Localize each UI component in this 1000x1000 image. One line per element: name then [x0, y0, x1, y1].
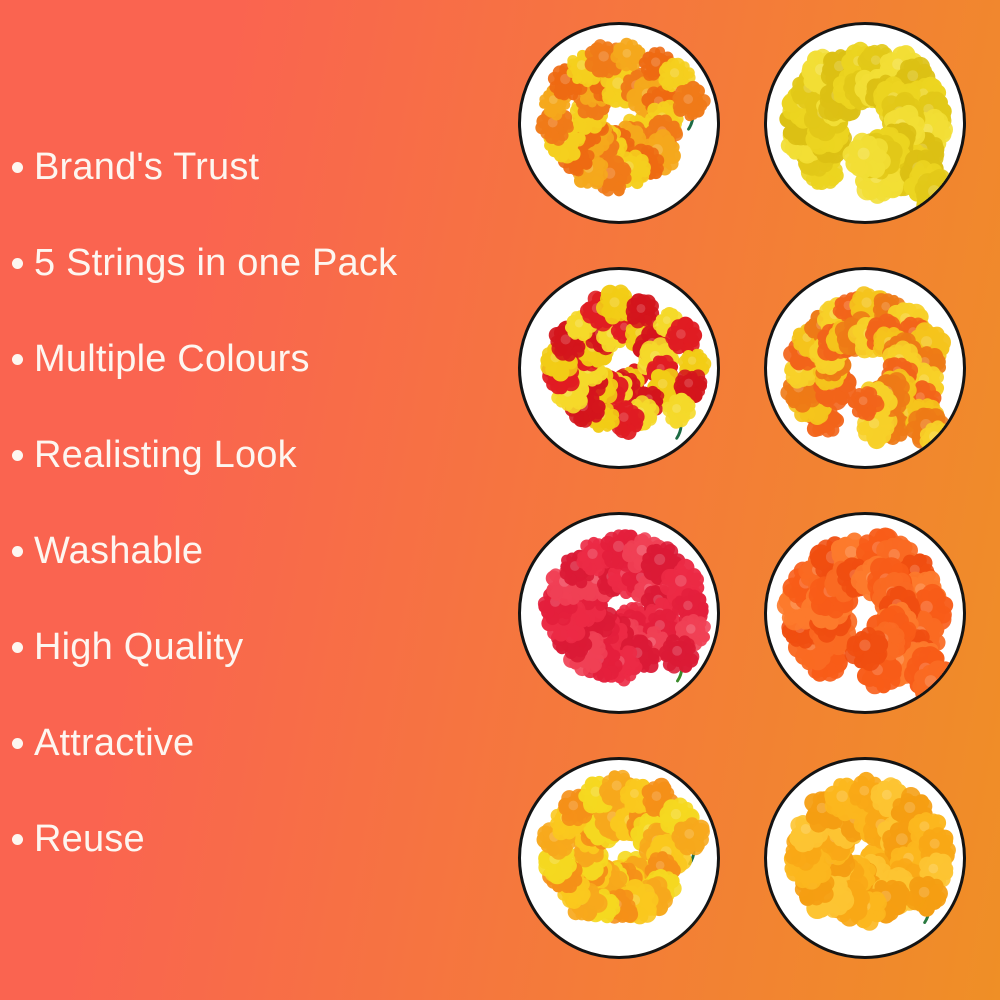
flower-cluster — [540, 285, 711, 440]
flower-cluster — [535, 38, 710, 197]
feature-item: Brand's Trust — [12, 144, 259, 190]
product-photo-garland-yellow-gold-mixed[interactable] — [518, 757, 720, 959]
product-photo-garland-golden-amber[interactable] — [764, 757, 966, 959]
bullet-dot-icon — [12, 450, 23, 461]
feature-label: Realisting Look — [34, 436, 297, 474]
product-photo-garland-yellow-orange-mixed[interactable] — [518, 22, 720, 224]
feature-label: Reuse — [34, 820, 145, 858]
flower-cluster — [779, 42, 960, 216]
garland-illustration — [521, 270, 717, 466]
product-photo-garland-orange[interactable] — [764, 512, 966, 714]
feature-label: Attractive — [34, 724, 194, 762]
feature-label: High Quality — [34, 628, 243, 666]
flower-cluster — [780, 286, 958, 460]
feature-item: 5 Strings in one Pack — [12, 240, 397, 286]
garland-illustration — [767, 270, 963, 466]
feature-item: Attractive — [12, 720, 194, 766]
bullet-dot-icon — [12, 642, 23, 653]
feature-item: High Quality — [12, 624, 243, 670]
feature-item: Realisting Look — [12, 432, 297, 478]
bullet-dot-icon — [12, 354, 23, 365]
garland-illustration — [521, 515, 717, 711]
product-photo-grid — [512, 22, 992, 982]
bullet-dot-icon — [12, 546, 23, 557]
garland-illustration — [521, 760, 717, 956]
feature-item: Washable — [12, 528, 203, 574]
feature-label: Multiple Colours — [34, 340, 310, 378]
bullet-dot-icon — [12, 738, 23, 749]
feature-label: 5 Strings in one Pack — [34, 244, 397, 282]
feature-item: Multiple Colours — [12, 336, 310, 382]
bullet-dot-icon — [12, 258, 23, 269]
feature-list: Brand's Trust5 Strings in one PackMultip… — [0, 0, 500, 1000]
product-photo-garland-red-pink[interactable] — [518, 512, 720, 714]
product-photo-garland-orange-yellow-dense[interactable] — [764, 267, 966, 469]
flower-cluster — [777, 528, 960, 711]
feature-label: Washable — [34, 532, 203, 570]
feature-item: Reuse — [12, 816, 145, 862]
garland-illustration — [767, 515, 963, 711]
garland-illustration — [767, 25, 963, 221]
flower-cluster — [537, 770, 710, 924]
product-photo-garland-yellow[interactable] — [764, 22, 966, 224]
flower-cluster — [784, 772, 956, 931]
product-feature-poster: Brand's Trust5 Strings in one PackMultip… — [0, 0, 1000, 1000]
garland-illustration — [767, 760, 963, 956]
feature-label: Brand's Trust — [34, 148, 259, 186]
garland-illustration — [521, 25, 717, 221]
bullet-dot-icon — [12, 834, 23, 845]
flower-cluster — [538, 529, 711, 686]
product-photo-garland-red-yellow-pompom[interactable] — [518, 267, 720, 469]
bullet-dot-icon — [12, 162, 23, 173]
